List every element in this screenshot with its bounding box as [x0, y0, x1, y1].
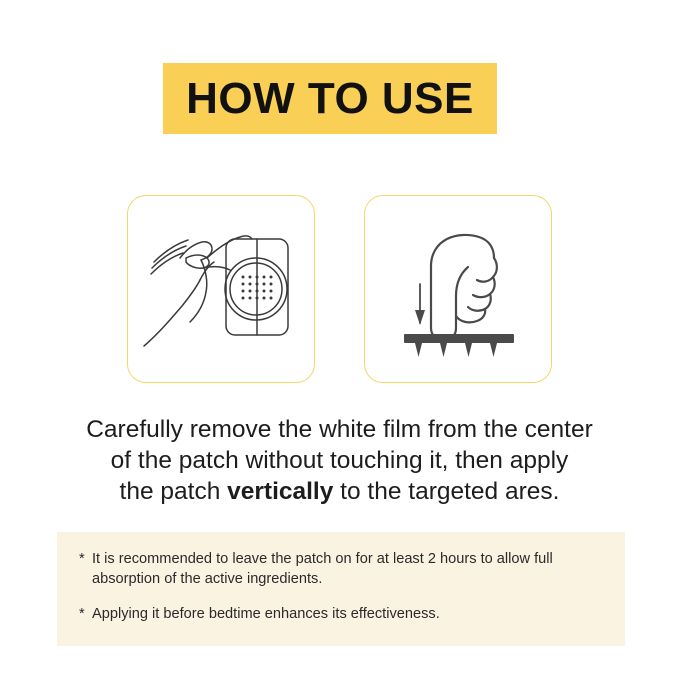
instruction-line-3-suffix: to the targeted ares. [333, 478, 559, 505]
step-illustrations [127, 195, 552, 383]
instruction-emphasis-vertically: vertically [227, 478, 333, 505]
note-text: Applying it before bedtime enhances its … [92, 604, 603, 624]
page-title: HOW TO USE [186, 77, 474, 121]
note-item: * It is recommended to leave the patch o… [79, 549, 603, 589]
note-item: * Applying it before bedtime enhances it… [79, 604, 603, 624]
notes-panel: * It is recommended to leave the patch o… [57, 532, 625, 646]
step-1-illustration-box [127, 195, 315, 383]
note-line-1: Applying it before bedtime enhances its … [92, 606, 440, 622]
how-to-use-infographic: HOW TO USE [0, 0, 679, 679]
note-line-1: It is recommended to leave the patch on … [92, 551, 530, 567]
title-banner: HOW TO USE [163, 63, 497, 134]
hand-peeling-film-from-patch-icon [128, 196, 315, 383]
note-text: It is recommended to leave the patch on … [92, 549, 603, 589]
note-marker: * [79, 604, 92, 624]
note-marker: * [79, 549, 92, 589]
instruction-line-2: of the patch without touching it, then a… [60, 445, 619, 476]
instruction-text: Carefully remove the white film from the… [60, 414, 619, 507]
instruction-line-3: the patch vertically to the targeted are… [60, 476, 619, 507]
finger-pressing-microneedle-patch-icon [365, 196, 552, 383]
microneedle-bar [404, 334, 514, 357]
arrow-down-icon [415, 284, 425, 325]
instruction-line-3-prefix: the patch [120, 478, 228, 505]
step-2-illustration-box [364, 195, 552, 383]
instruction-line-1: Carefully remove the white film from the… [60, 414, 619, 445]
